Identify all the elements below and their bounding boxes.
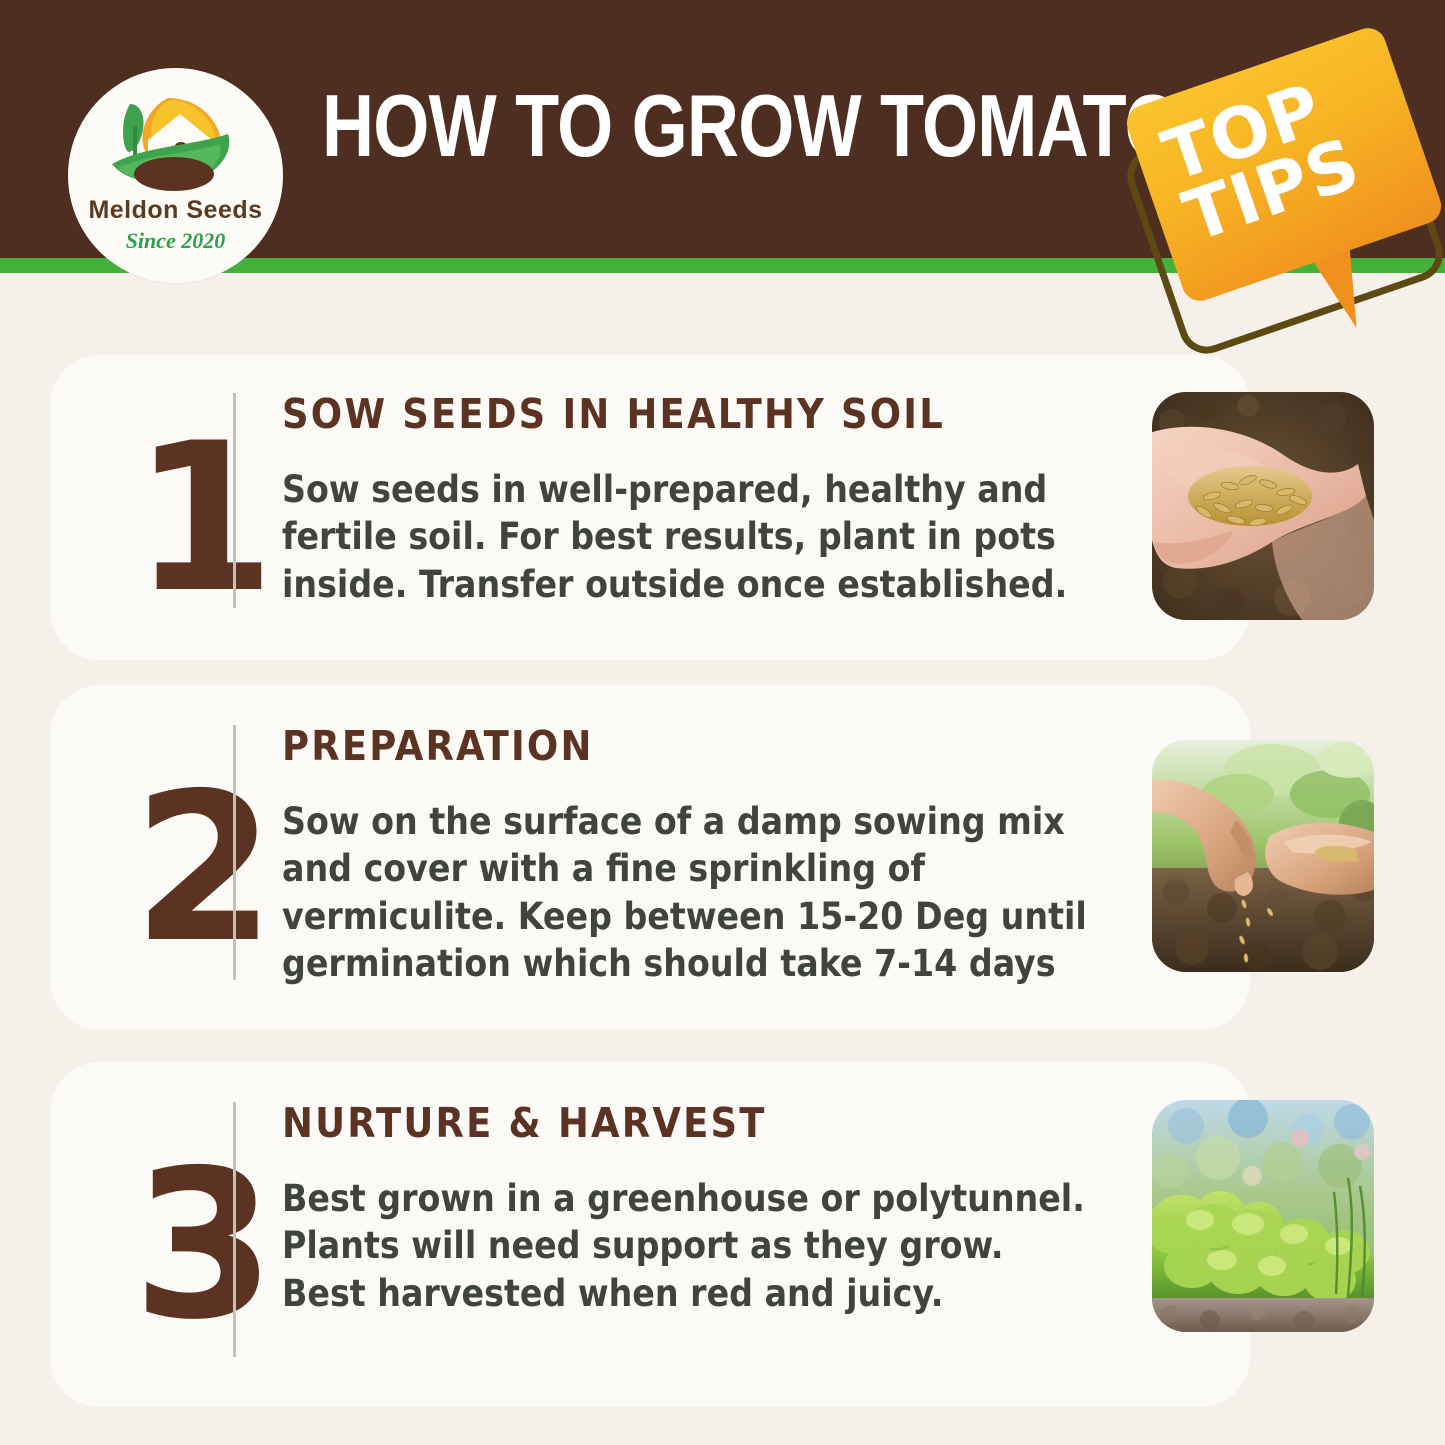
logo-brand-name: Meldon Seeds xyxy=(68,196,283,225)
farmhouse-sun-leaf-logo-icon xyxy=(96,90,256,198)
step-heading-1: SOW SEEDS IN HEALTHY SOIL xyxy=(282,393,1092,436)
step-card-3: 3 NURTURE & HARVEST Best grown in a gree… xyxy=(50,1062,1250,1407)
step-content-3: NURTURE & HARVEST Best grown in a greenh… xyxy=(282,1102,1092,1317)
step-card-1: 1 SOW SEEDS IN HEALTHY SOIL Sow seeds in… xyxy=(50,355,1250,660)
step-heading-3: NURTURE & HARVEST xyxy=(282,1102,1092,1145)
hand-holding-seeds-over-soil-photo xyxy=(1152,392,1374,620)
step-image-2 xyxy=(1152,740,1374,972)
step-text-1: Sow seeds in well-prepared, healthy and … xyxy=(282,466,1092,608)
brand-logo: Meldon Seeds Since 2020 xyxy=(68,68,283,283)
step-card-2: 2 PREPARATION Sow on the surface of a da… xyxy=(50,685,1250,1030)
step-heading-2: PREPARATION xyxy=(282,725,1092,768)
green-lettuce-plants-in-garden-photo xyxy=(1152,1100,1374,1332)
step-number-1: 1 xyxy=(132,417,272,622)
logo-tagline: Since 2020 xyxy=(68,228,283,254)
step-image-1 xyxy=(1152,392,1374,620)
step-text-3: Best grown in a greenhouse or polytunnel… xyxy=(282,1175,1092,1317)
step-divider-2 xyxy=(233,725,236,980)
step-divider-1 xyxy=(233,393,236,608)
step-number-3: 3 xyxy=(132,1144,272,1349)
top-tips-badge: TOP TIPS xyxy=(1120,40,1445,370)
step-image-3 xyxy=(1152,1100,1374,1332)
hands-sowing-seeds-into-soil-photo xyxy=(1152,740,1374,972)
step-divider-3 xyxy=(233,1102,236,1357)
step-number-2: 2 xyxy=(132,767,272,972)
step-content-1: SOW SEEDS IN HEALTHY SOIL Sow seeds in w… xyxy=(282,393,1092,608)
step-text-2: Sow on the surface of a damp sowing mix … xyxy=(282,798,1092,987)
page-title: HOW TO GROW TOMATOES xyxy=(322,84,1003,168)
step-content-2: PREPARATION Sow on the surface of a damp… xyxy=(282,725,1092,987)
